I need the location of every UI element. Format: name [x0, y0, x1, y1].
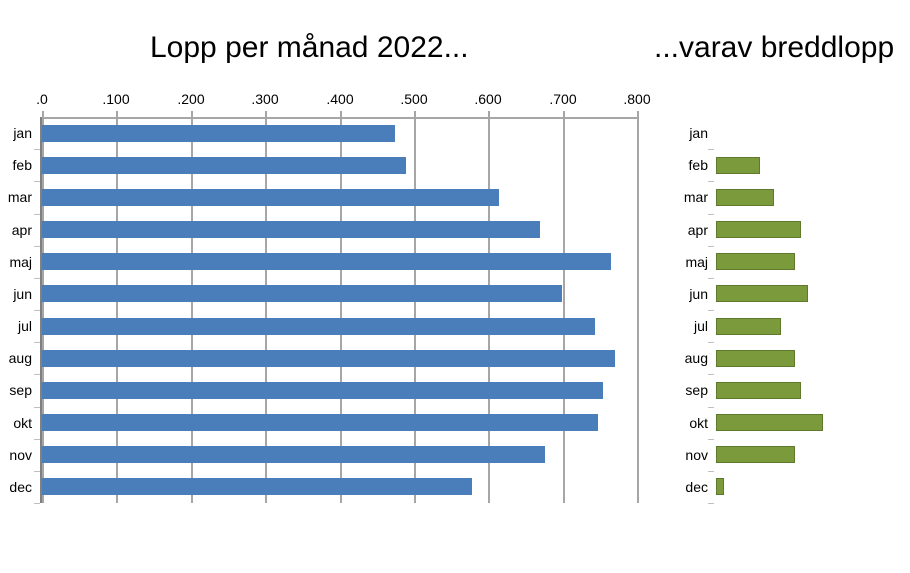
category-label-jun: jun: [655, 285, 708, 303]
category-tick: [708, 471, 714, 472]
x-axis-tick: [116, 111, 118, 119]
category-tick: [708, 278, 714, 279]
category-tick: [34, 181, 40, 182]
bar-sep: [716, 382, 801, 399]
category-tick: [708, 342, 714, 343]
bar-okt: [716, 414, 823, 431]
category-tick: [34, 407, 40, 408]
category-tick: [34, 246, 40, 247]
category-tick: [708, 214, 714, 215]
category-tick: [708, 246, 714, 247]
category-tick: [34, 214, 40, 215]
category-label-jun: jun: [0, 285, 32, 303]
category-label-aug: aug: [655, 349, 708, 367]
chart-title-left: Lopp per månad 2022...: [150, 30, 469, 66]
category-label-apr: apr: [655, 221, 708, 239]
category-tick: [34, 149, 40, 150]
category-label-apr: apr: [0, 221, 32, 239]
category-tick: [708, 181, 714, 182]
x-axis-tick: [191, 111, 193, 119]
category-tick: [708, 439, 714, 440]
bar-jul: [42, 318, 595, 335]
x-tick-label: .700: [549, 90, 576, 108]
x-axis-tick: [488, 111, 490, 119]
bar-maj: [716, 253, 795, 270]
category-label-jan: jan: [0, 124, 32, 142]
bar-okt: [42, 414, 598, 431]
x-axis-tick: [340, 111, 342, 119]
bar-feb: [42, 157, 406, 174]
category-axis-left: [40, 117, 42, 503]
category-tick: [708, 407, 714, 408]
category-tick: [708, 503, 714, 504]
category-tick: [34, 310, 40, 311]
x-axis-tick: [414, 111, 416, 119]
category-label-maj: maj: [655, 253, 708, 271]
bar-jul: [716, 318, 781, 335]
category-label-feb: feb: [0, 156, 32, 174]
category-label-aug: aug: [0, 349, 32, 367]
category-tick: [34, 374, 40, 375]
x-tick-label: .600: [474, 90, 501, 108]
x-axis-tick-labels-right: .0.100.200: [645, 90, 910, 108]
category-tick: [34, 439, 40, 440]
category-tick: [34, 503, 40, 504]
gridline: [637, 119, 639, 503]
bar-nov: [42, 446, 545, 463]
chart-title-right: ...varav breddlopp: [654, 30, 894, 66]
bar-nov: [716, 446, 795, 463]
category-label-sep: sep: [0, 381, 32, 399]
category-label-dec: dec: [0, 478, 32, 496]
bar-dec: [716, 478, 724, 495]
category-label-mar: mar: [0, 188, 32, 206]
x-tick-label: .300: [251, 90, 278, 108]
category-tick: [708, 149, 714, 150]
category-label-nov: nov: [0, 446, 32, 464]
bar-sep: [42, 382, 603, 399]
x-axis-tick: [637, 111, 639, 119]
bar-aug: [42, 350, 615, 367]
category-label-okt: okt: [655, 414, 708, 432]
bar-jan: [42, 125, 395, 142]
bar-apr: [42, 221, 540, 238]
x-tick-label: .100: [102, 90, 129, 108]
plot-area-left: [42, 117, 637, 503]
category-label-sep: sep: [655, 381, 708, 399]
bar-maj: [42, 253, 611, 270]
bar-dec: [42, 478, 472, 495]
category-label-okt: okt: [0, 414, 32, 432]
x-axis-tick: [42, 111, 44, 119]
category-tick: [708, 374, 714, 375]
category-label-jul: jul: [655, 317, 708, 335]
slide-canvas: Lopp per månad 2022... .0.100.200.300.40…: [0, 0, 910, 573]
category-tick: [34, 342, 40, 343]
category-label-jan: jan: [655, 124, 708, 142]
x-tick-label: .500: [400, 90, 427, 108]
bar-mar: [716, 189, 774, 206]
category-label-feb: feb: [655, 156, 708, 174]
category-label-mar: mar: [655, 188, 708, 206]
category-tick: [34, 278, 40, 279]
category-tick: [708, 310, 714, 311]
bar-mar: [42, 189, 499, 206]
bar-aug: [716, 350, 795, 367]
category-tick: [34, 471, 40, 472]
category-label-dec: dec: [655, 478, 708, 496]
category-label-jul: jul: [0, 317, 32, 335]
bar-feb: [716, 157, 760, 174]
x-tick-label: .200: [177, 90, 204, 108]
category-label-nov: nov: [655, 446, 708, 464]
category-label-maj: maj: [0, 253, 32, 271]
x-axis-tick: [563, 111, 565, 119]
x-axis-tick: [265, 111, 267, 119]
gridline: [563, 119, 565, 503]
bar-jun: [42, 285, 562, 302]
bar-jun: [716, 285, 808, 302]
x-tick-label: .400: [326, 90, 353, 108]
x-tick-label: .0: [36, 90, 48, 108]
bar-apr: [716, 221, 801, 238]
